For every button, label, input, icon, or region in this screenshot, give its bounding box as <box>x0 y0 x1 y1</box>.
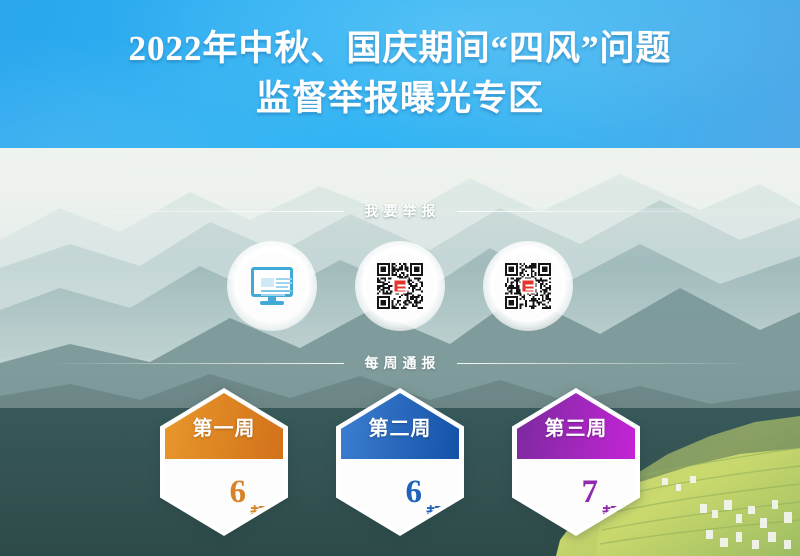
badge-count-area: 6 起 <box>165 459 283 531</box>
header-banner: 2022年中秋、国庆期间“四风”问题 监督举报曝光专区 <box>0 0 800 148</box>
badge-week-label: 第二周 <box>369 412 432 441</box>
badge-count: 7 <box>582 476 599 509</box>
badge-count-area: 7 起 <box>517 459 635 531</box>
page-root: 2022年中秋、国庆期间“四风”问题 监督举报曝光专区 <box>0 0 800 556</box>
weekly-badge-week-2[interactable]: 第二周 6 起 <box>336 388 464 536</box>
divider-report-label: 我要举报 <box>358 201 443 221</box>
divider-rule-right <box>457 363 757 364</box>
weekly-badge-week-3[interactable]: 第三周 7 起 <box>512 388 640 536</box>
qr-code-icon <box>505 263 551 309</box>
page-title-line-2: 监督举报曝光专区 <box>256 76 544 122</box>
divider-weekly: 每周通报 <box>0 352 800 374</box>
divider-weekly-label: 每周通报 <box>358 353 443 373</box>
divider-report: 我要举报 <box>0 200 800 222</box>
monitor-icon <box>249 263 295 309</box>
qr-center-logo-2 <box>521 279 536 294</box>
report-channel-website[interactable] <box>227 241 317 331</box>
weekly-badge-week-1[interactable]: 第一周 6 起 <box>160 388 288 536</box>
page-title-line-1: 2022年中秋、国庆期间“四风”问题 <box>128 26 671 72</box>
badge-cap: 第二周 <box>341 393 459 459</box>
report-channel-qrcode-2[interactable] <box>483 241 573 331</box>
badge-week-label: 第一周 <box>193 412 256 441</box>
qr-center-logo-1 <box>393 279 408 294</box>
qr-code-icon <box>377 263 423 309</box>
divider-rule-left <box>44 363 344 364</box>
report-channel-qrcode-1[interactable] <box>355 241 445 331</box>
page-title: 2022年中秋、国庆期间“四风”问题 监督举报曝光专区 <box>0 0 800 148</box>
badge-cap: 第三周 <box>517 393 635 459</box>
divider-rule-right <box>457 211 757 212</box>
report-channel-row <box>0 236 800 336</box>
badge-cap: 第一周 <box>165 393 283 459</box>
badge-count-area: 6 起 <box>341 459 459 531</box>
divider-rule-left <box>44 211 344 212</box>
badge-count: 6 <box>230 476 247 509</box>
badge-count: 6 <box>406 476 423 509</box>
weekly-report-badges: 第一周 6 起 第二周 6 起 <box>0 388 800 548</box>
badge-week-label: 第三周 <box>545 412 608 441</box>
